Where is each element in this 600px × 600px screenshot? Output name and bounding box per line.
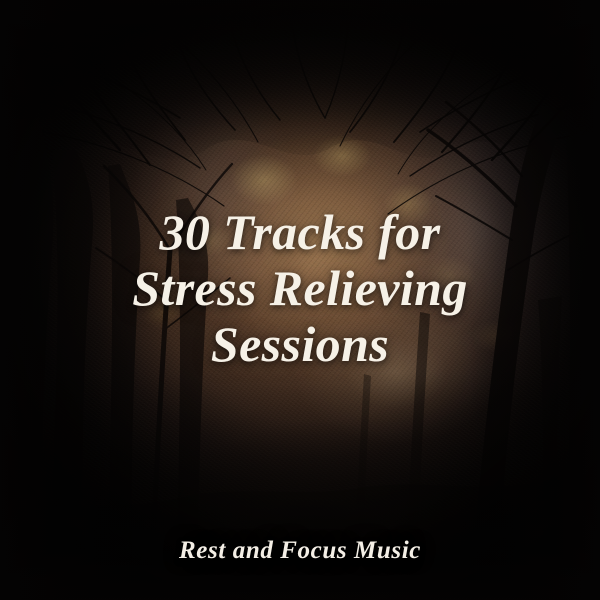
album-artist: Rest and Focus Music [0, 536, 600, 566]
cover-text-stack: 30 Tracks for Stress Relieving Sessions … [0, 0, 600, 600]
album-cover: 30 Tracks for Stress Relieving Sessions … [0, 0, 600, 600]
album-title: 30 Tracks for Stress Relieving Sessions [0, 204, 600, 372]
